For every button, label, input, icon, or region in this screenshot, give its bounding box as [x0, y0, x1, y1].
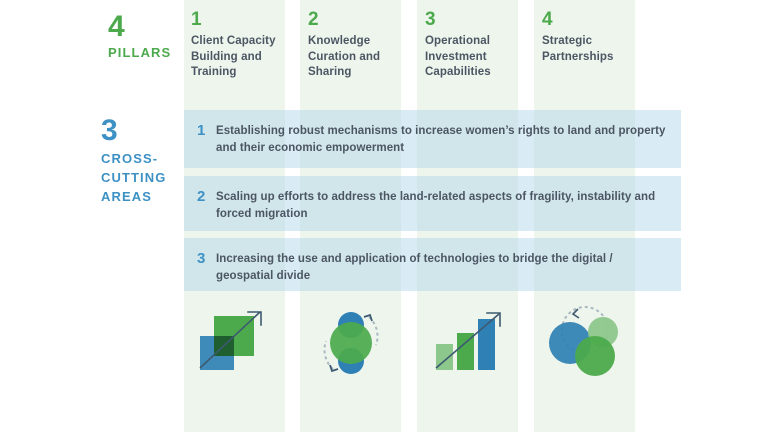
overlapping-circles-network-icon — [540, 300, 630, 390]
cross-cutting-count: 3 — [101, 116, 181, 146]
cross-cutting-word-line1: CROSS- — [101, 149, 181, 168]
pillar-header-1: 1 Client Capacity Building and Training — [191, 10, 286, 81]
pillar-icon-slot-2 — [300, 300, 401, 395]
pillar-header-2: 2 Knowledge Curation and Sharing — [308, 10, 403, 81]
pillar-label-4: Strategic Partnerships — [542, 34, 637, 65]
pillars-infographic: 4 PILLARS 3 CROSS- CUTTING AREAS 1 Clien… — [0, 0, 780, 439]
pillar-number-2: 2 — [308, 10, 403, 30]
cross-cutting-row-1: 1 Establishing robust mechanisms to incr… — [184, 110, 681, 168]
circular-exchange-icon — [306, 300, 396, 390]
cross-cutting-text-2: Scaling up efforts to address the land-r… — [216, 189, 673, 223]
cross-cutting-number-1: 1 — [197, 123, 205, 139]
cross-cutting-text-1: Establishing robust mechanisms to increa… — [216, 123, 673, 157]
pillars-count: 4 — [108, 12, 180, 42]
pillar-number-3: 3 — [425, 10, 520, 30]
cross-cutting-text-3: Increasing the use and application of te… — [216, 251, 673, 285]
pillar-icon-slot-3 — [417, 300, 518, 395]
cross-cutting-row-3: 3 Increasing the use and application of … — [184, 238, 681, 291]
pillar-label-2: Knowledge Curation and Sharing — [308, 34, 403, 81]
cross-cutting-section-label: 3 CROSS- CUTTING AREAS — [101, 116, 181, 206]
pillars-section-label: 4 PILLARS — [108, 12, 180, 62]
cross-cutting-word-line2: CUTTING — [101, 168, 181, 187]
overlapping-squares-growth-icon — [190, 300, 280, 390]
pillars-word: PILLARS — [108, 44, 180, 62]
pillar-header-3: 3 Operational Investment Capabilities — [425, 10, 520, 81]
pillar-label-3: Operational Investment Capabilities — [425, 34, 520, 81]
pillar-icon-slot-4 — [534, 300, 635, 395]
cross-cutting-row-2: 2 Scaling up efforts to address the land… — [184, 176, 681, 231]
cross-cutting-word: CROSS- CUTTING AREAS — [101, 149, 181, 206]
pillar-number-4: 4 — [542, 10, 637, 30]
cross-cutting-number-3: 3 — [197, 251, 205, 267]
pillar-header-4: 4 Strategic Partnerships — [542, 10, 637, 65]
cross-cutting-number-2: 2 — [197, 189, 205, 205]
pillar-icon-slot-1 — [184, 300, 285, 395]
cross-cutting-word-line3: AREAS — [101, 187, 181, 206]
pillar-label-1: Client Capacity Building and Training — [191, 34, 286, 81]
pillar-number-1: 1 — [191, 10, 286, 30]
ascending-bar-chart-icon — [423, 300, 513, 390]
